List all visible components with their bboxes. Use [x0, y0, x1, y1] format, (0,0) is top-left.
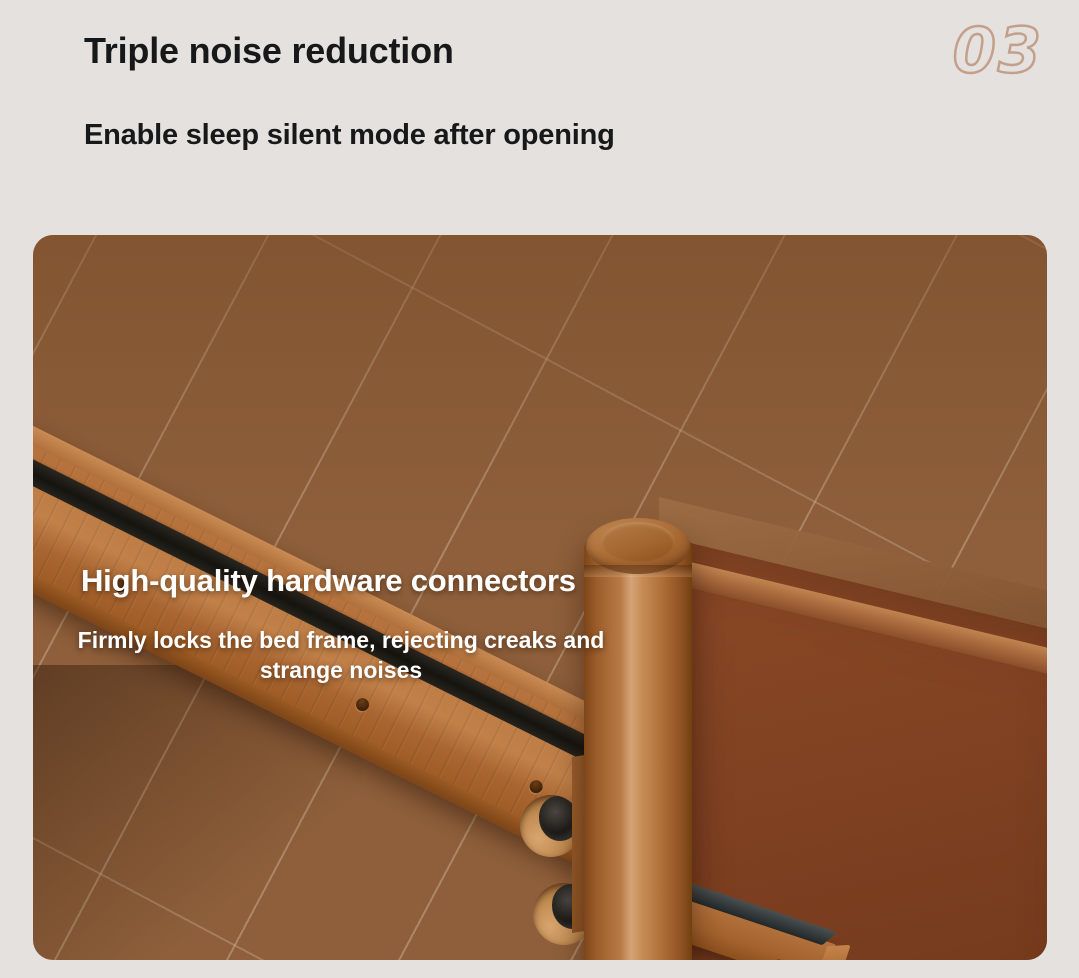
floor-shadow-top: [33, 235, 1047, 535]
header: Triple noise reduction Enable sleep sile…: [0, 0, 1079, 235]
bed-post-neck-groove: [584, 565, 692, 577]
overlay-heading: High-quality hardware connectors: [81, 563, 576, 599]
page-subtitle: Enable sleep silent mode after opening: [84, 119, 615, 152]
step-number-badge: 03: [953, 20, 1043, 82]
bed-post-cap-inner-ring: [601, 522, 675, 562]
product-photo: High-quality hardware connectors Firmly …: [33, 235, 1047, 960]
bed-post-highlight: [621, 535, 641, 960]
overlay-body-text: Firmly locks the bed frame, rejecting cr…: [76, 625, 606, 686]
cleat-end-cap: [813, 945, 851, 960]
page-title: Triple noise reduction: [84, 30, 454, 72]
dowel-hole: [771, 958, 787, 960]
